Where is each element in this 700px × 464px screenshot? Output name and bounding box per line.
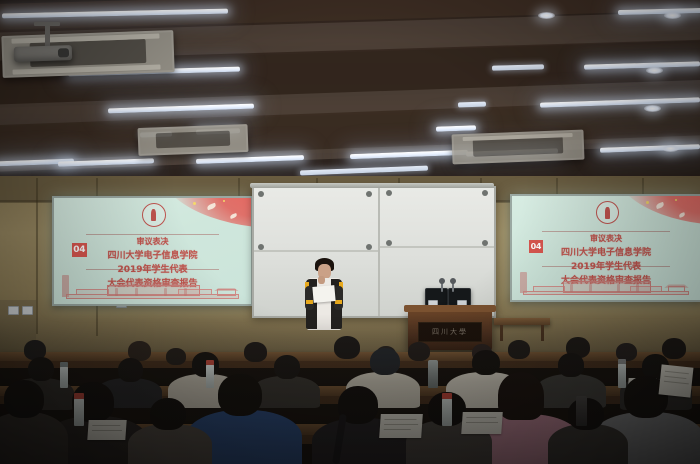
recessed-downlight [646, 67, 663, 74]
slide-line-2: 四川大学电子信息学院 [107, 248, 197, 261]
paper-document [87, 420, 126, 440]
ac-vent-panel [155, 130, 230, 148]
slide-line-1: 审议表决 [137, 236, 169, 247]
recessed-downlight [662, 145, 679, 152]
paper-text-line [665, 371, 689, 375]
speaker-document [312, 285, 335, 303]
ceiling-air-conditioner [451, 130, 584, 165]
pavilion-line-art [664, 284, 688, 292]
tiananmen-gate-line-art [54, 268, 251, 304]
paper-text-line [384, 419, 416, 420]
pavilion-line-art [214, 288, 240, 296]
slide-right: 04 审议表决 四川大学电子信息学院 2019年学生代表 大会代表资格审查报告 [512, 196, 700, 300]
ceiling-projector [14, 45, 72, 62]
paper-text-line [384, 424, 418, 425]
projector-mount-arm [45, 24, 50, 48]
audience-head [4, 380, 44, 418]
bottle-cap [206, 360, 214, 365]
audience-head [244, 342, 267, 362]
wall-panel-seam [36, 178, 38, 334]
speaker-sleeve-stripe [335, 300, 342, 304]
whiteboard-corner-clip [258, 191, 264, 197]
audience-shoulders [548, 424, 628, 464]
side-table-leg [500, 325, 503, 341]
paper-document-held [659, 364, 694, 397]
audience-head-long-hair [498, 372, 544, 420]
speaker-hand [318, 276, 325, 284]
whiteboard-panel-divider [254, 250, 378, 252]
water-bottle [74, 398, 84, 426]
paper-text-line [384, 429, 411, 430]
audience-head [166, 348, 186, 365]
paper-text-line [92, 425, 120, 426]
projector-lens [58, 48, 69, 57]
water-bottle [60, 366, 68, 388]
gate-roof-upper [568, 278, 643, 280]
water-bottle [618, 363, 626, 388]
bottle-cap [60, 362, 68, 367]
audience-head [508, 340, 530, 359]
whiteboard-corner-clip [366, 191, 372, 197]
whiteboard-corner-clip [366, 244, 372, 250]
podium-microphone [452, 282, 454, 292]
sichuan-university-emblem [596, 201, 619, 224]
gate-roof-upper [113, 282, 192, 285]
whiteboard-panel-divider [380, 246, 494, 248]
gate-pillar [589, 284, 592, 292]
podium-calligraphy: 四川大學 [419, 323, 481, 341]
audience-head [662, 338, 686, 359]
gate-pillar [570, 284, 573, 292]
projection-screen-right: 04 审议表决 四川大学电子信息学院 2019年学生代表 大会代表资格审查报告 [510, 194, 700, 302]
gate-pillar [164, 288, 167, 296]
gate-pillar [184, 288, 187, 296]
audience-head [274, 355, 300, 379]
audience-head [118, 358, 143, 382]
sichuan-university-emblem [142, 203, 166, 227]
paper-text-line [92, 430, 122, 431]
podium-microphone [441, 282, 443, 292]
bottle-cap [74, 393, 84, 399]
wall-switch-plate [22, 306, 33, 315]
audience-head [28, 357, 54, 381]
paper-text-line [664, 381, 689, 385]
projection-screen-left: 04 审议表决 四川大学电子信息学院 2019年学生代表 大会代表资格审查报告 [52, 196, 253, 306]
audience-head-with-cap [370, 348, 400, 375]
gate-pillar [115, 288, 118, 296]
speaker-sleeve-stripe [306, 300, 313, 304]
slide-left: 04 审议表决 四川大学电子信息学院 2019年学生代表 大会代表资格审查报告 [54, 198, 251, 304]
whiteboard-corner-clip [386, 240, 392, 246]
ceiling-light-tube [458, 102, 486, 108]
slide-line-2: 四川大学电子信息学院 [561, 245, 651, 258]
gate-roof-lower [557, 281, 655, 284]
desk-front-panel [0, 361, 700, 368]
paper-text-line [466, 422, 498, 423]
podium-desktop-edge [404, 305, 496, 312]
whiteboard-corner-clip [258, 244, 264, 250]
wall-switch-plate [8, 306, 19, 315]
lecture-hall-photo: 04 审议表决 四川大学电子信息学院 2019年学生代表 大会代表资格审查报告 [0, 0, 700, 464]
audience-head [472, 350, 500, 375]
bottle-cap [618, 359, 626, 364]
gate-pillar [135, 288, 138, 296]
bottle-cap [442, 393, 452, 399]
audience-shoulders [252, 376, 320, 408]
slide-red-corner-graphic [610, 194, 700, 225]
recessed-downlight [644, 105, 661, 112]
paper-document [461, 412, 503, 434]
recessed-downlight [538, 12, 555, 19]
gate-roof-lower [101, 284, 203, 287]
audience-head [558, 353, 584, 377]
water-bottle [206, 364, 214, 388]
paper-text-line [466, 417, 496, 418]
audience-head [334, 336, 360, 359]
ceiling-air-conditioner [138, 124, 249, 156]
tiananmen-gate-line-art [512, 265, 700, 300]
water-bottle [442, 398, 452, 426]
audience-shoulders [0, 412, 68, 464]
slide-line-1: 审议表决 [590, 233, 622, 244]
side-equipment-table [494, 318, 550, 325]
side-table-leg [541, 325, 544, 341]
thermos-bottle [428, 360, 438, 388]
paper-text-line [664, 376, 686, 379]
audience-shoulders [128, 424, 212, 464]
whiteboard-corner-clip [386, 190, 392, 196]
podium-name-plate: 四川大學 [418, 322, 482, 342]
ceiling [0, 0, 700, 186]
gate-pillar [636, 284, 639, 292]
whiteboard-top-rail [250, 183, 494, 188]
thermos-bottle [576, 396, 587, 426]
whiteboard-corner-clip [482, 240, 488, 246]
whiteboard-panel-divider [378, 188, 380, 316]
gate-pillar [617, 284, 620, 292]
audience-head [408, 342, 430, 361]
paper-document [379, 414, 423, 438]
audience-head [218, 374, 262, 416]
recessed-downlight [664, 12, 681, 19]
whiteboard-corner-clip [482, 190, 488, 196]
audience-head [150, 398, 186, 430]
slide-red-corner-graphic [156, 196, 253, 228]
slide-divider-top [86, 234, 220, 235]
slide-divider-top [542, 231, 670, 232]
